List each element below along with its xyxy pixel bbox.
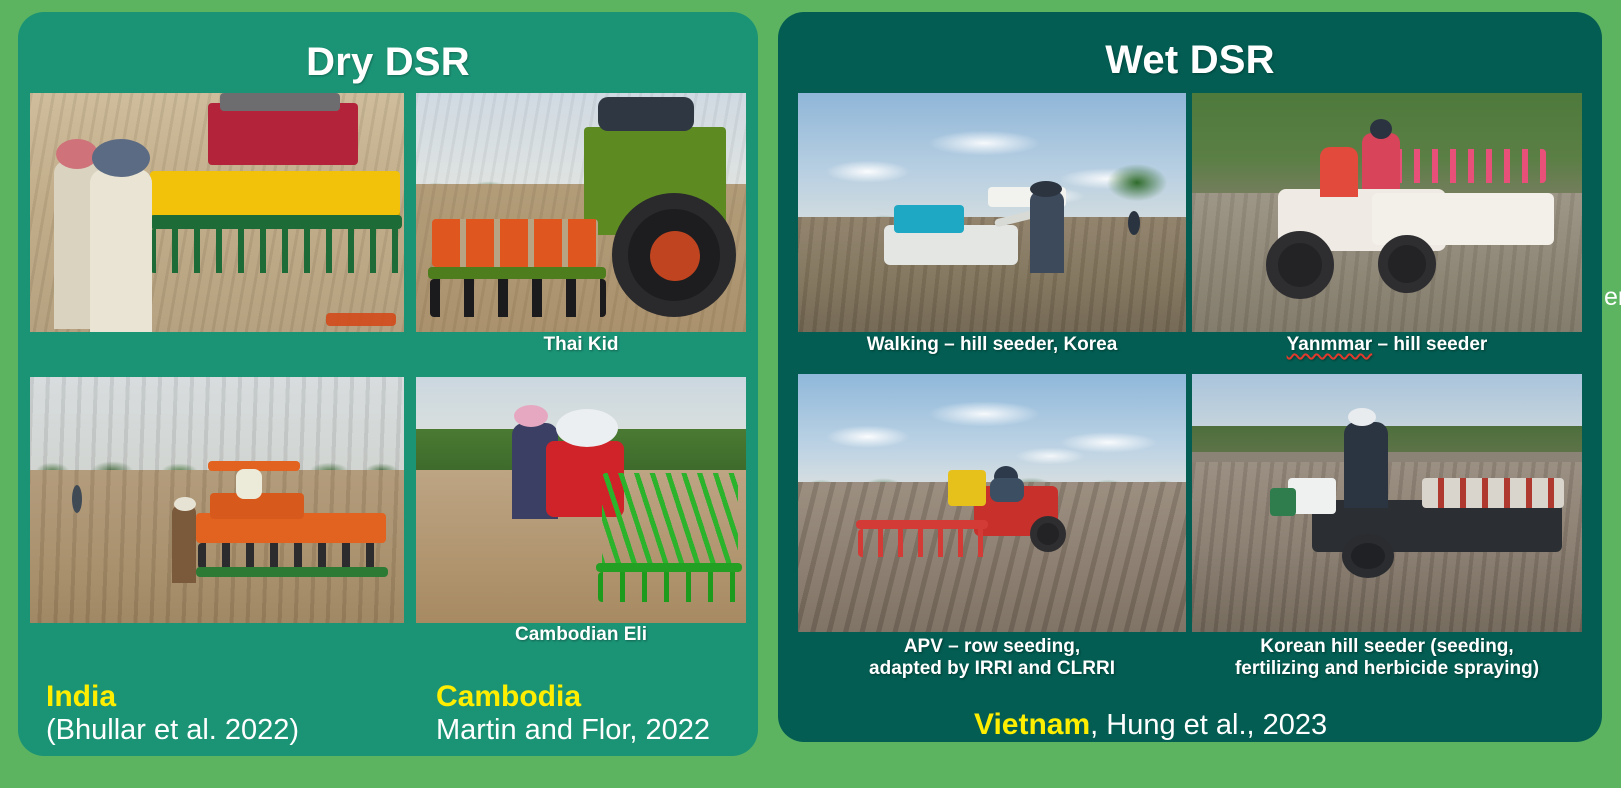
photo-row-seeding-tines — [858, 529, 988, 557]
photo-drill-tines — [150, 229, 402, 273]
photo-wheel — [1030, 516, 1066, 552]
photo-seed-drill-bar — [196, 567, 388, 577]
panel-dry-title: Dry DSR — [18, 42, 758, 82]
photo-tractor-hub — [650, 231, 700, 281]
photo-tractor-driver — [236, 469, 262, 499]
caption-apv-line-2: adapted by IRRI and CLRRI — [869, 658, 1115, 679]
clipped-edge-label: er — [1604, 283, 1621, 312]
photo-apv-row-seeder — [798, 374, 1186, 632]
panel-wet-dsr: Wet DSR Walking – hill seeder, Korea — [778, 12, 1602, 742]
photo-distant-people — [1128, 211, 1140, 235]
photo-yanmmar-hill-seeder — [1192, 93, 1582, 332]
credit-india-country: India — [46, 680, 376, 714]
photo-walking-farmer-hat — [174, 497, 196, 511]
credit-india-reference: (Bhullar et al. 2022) — [46, 714, 376, 746]
credit-cambodia-country: Cambodia — [436, 680, 756, 714]
photo-operator-one — [1320, 147, 1358, 197]
caption-korean-line-1: Korean hill seeder (seeding, — [1260, 636, 1513, 657]
photo-machine-wheel — [1342, 534, 1394, 578]
photo-standing-operator — [1344, 422, 1388, 508]
caption-apv-line-1: APV – row seeding, — [904, 636, 1080, 657]
panel-wet-title: Wet DSR — [778, 40, 1602, 80]
photo-machine-seed-rows — [1378, 149, 1546, 183]
photo-seed-hoppers — [1422, 478, 1564, 508]
photo-planter-discs — [430, 279, 606, 317]
photo-operators — [598, 97, 694, 131]
caption-yanmmar-hill-seeder: Yanmmar – hill seeder — [1192, 334, 1582, 356]
photo-seed-drill-tines — [198, 543, 386, 569]
photo-operator-cap — [514, 405, 548, 427]
caption-cambodian-eli: Cambodian Eli — [416, 624, 746, 646]
photo-operator — [1030, 191, 1064, 273]
photo-operator-body — [990, 478, 1024, 502]
photo-row-seeding-toolbar — [856, 520, 988, 529]
photo-yellow-hopper — [948, 470, 986, 506]
photo-green-box — [1270, 488, 1296, 516]
credit-vietnam-country: Vietnam — [974, 708, 1090, 741]
caption-korean-line-2: fertilizing and herbicide spraying) — [1235, 658, 1539, 679]
credit-cambodia-reference: Martin and Flor, 2022 — [436, 714, 756, 746]
credit-cambodia: Cambodia Martin and Flor, 2022 — [436, 680, 756, 746]
photo-tractor-body — [208, 103, 358, 165]
photo-operator-two-head — [1370, 119, 1392, 139]
slide-canvas: Dry DSR — [0, 0, 1621, 788]
photo-tines — [598, 572, 742, 602]
photo-operator-hat — [1030, 181, 1062, 197]
photo-drill-frame — [150, 215, 402, 229]
caption-walking-hill-seeder-korea: Walking – hill seeder, Korea — [788, 334, 1196, 356]
photo-india-seed-drill-yellow — [30, 93, 404, 332]
panel-dry-dsr: Dry DSR — [18, 12, 758, 756]
photo-walking-farmer — [172, 505, 196, 583]
photo-farmer-right — [90, 169, 152, 332]
photo-walking-hill-seeder-korea — [798, 93, 1186, 332]
photo-white-tank — [556, 409, 618, 447]
photo-operator-two — [1362, 133, 1400, 189]
photo-seeder-hopper — [894, 205, 964, 233]
photo-tractor-cab — [220, 93, 340, 111]
photo-korean-hill-seeder-combo — [1192, 374, 1582, 632]
photo-operator-cap — [1348, 408, 1376, 426]
credit-vietnam: Vietnam, Hung et al., 2023 — [974, 708, 1327, 742]
photo-yellow-hopper — [150, 171, 400, 215]
photo-machine-wheel-right — [1378, 235, 1436, 293]
photo-green-tubes — [602, 473, 738, 569]
photo-planter-units — [432, 219, 598, 267]
caption-yanmmar-rest: – hill seeder — [1372, 334, 1487, 355]
caption-thai-kid: Thai Kid — [416, 334, 746, 356]
photo-cambodian-eli-seeder — [416, 377, 746, 623]
caption-yanmmar-misspelled-word: Yanmmar — [1287, 334, 1373, 355]
photo-thai-kid-planter — [416, 93, 746, 332]
photo-farmer-right-turban — [92, 139, 150, 177]
photo-distant-worker — [72, 485, 82, 513]
photo-india-orange-seeder — [30, 377, 404, 623]
photo-toolbar — [596, 563, 742, 572]
credit-india: India (Bhullar et al. 2022) — [46, 680, 376, 746]
photo-machine-wheel-left — [1266, 231, 1334, 299]
photo-date-stamp — [326, 313, 396, 326]
caption-korean-hill-seeder-combo: Korean hill seeder (seeding, fertilizing… — [1192, 636, 1582, 679]
photo-planter-toolbar — [428, 267, 606, 279]
credit-vietnam-reference: , Hung et al., 2023 — [1090, 709, 1327, 741]
caption-apv-row-seeder: APV – row seeding, adapted by IRRI and C… — [788, 636, 1196, 679]
